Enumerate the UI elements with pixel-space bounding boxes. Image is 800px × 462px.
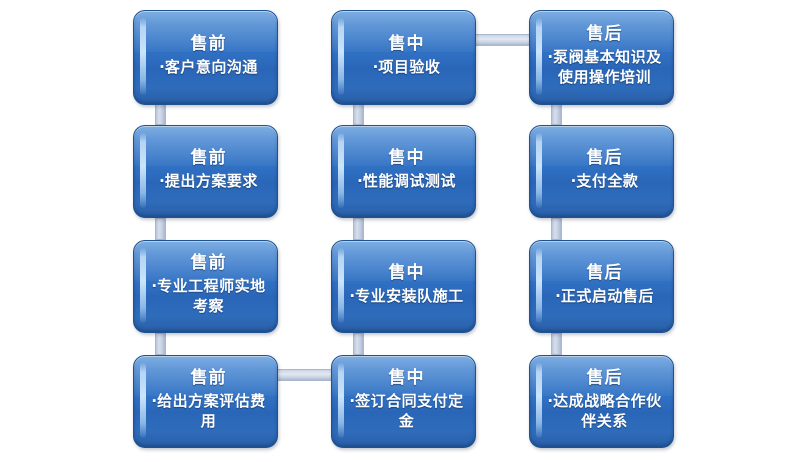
node-text: 专业安装队施工 (355, 287, 464, 305)
node-r3c2[interactable]: 售中 ·专业安装队施工 (331, 240, 476, 333)
node-body: ·客户意向沟通 (159, 57, 258, 77)
node-text: 专业工程师实地考察 (157, 277, 266, 315)
node-text: 签订合同支付定金 (355, 392, 464, 430)
node-body: ·泵阀基本知识及使用操作培训 (546, 47, 663, 88)
node-body: ·签订合同支付定金 (348, 391, 465, 432)
node-text: 给出方案评估费用 (157, 392, 266, 430)
node-text: 达成战略合作伙伴关系 (553, 392, 662, 430)
node-title: 售中 (389, 263, 425, 284)
node-body: ·项目验收 (373, 57, 441, 77)
node-text: 泵阀基本知识及使用操作培训 (553, 48, 662, 86)
node-text: 正式启动售后 (561, 287, 654, 305)
node-body: ·性能调试测试 (357, 171, 456, 191)
node-r1c2[interactable]: 售中 ·项目验收 (331, 10, 476, 105)
connector-c3-r1-r2 (551, 103, 562, 125)
node-title: 售前 (191, 34, 227, 55)
node-title: 售中 (389, 148, 425, 169)
flowchart-canvas: 售前 ·客户意向沟通 售中 ·项目验收 售后 ·泵阀基本知识及使用操作培训 售前… (0, 0, 800, 462)
node-body: ·支付全款 (571, 171, 639, 191)
connector-c3-r3-r4 (551, 333, 562, 355)
node-title: 售后 (587, 368, 623, 389)
connector-c1-r1-r2 (155, 103, 166, 125)
node-r4c3[interactable]: 售后 ·达成战略合作伙伴关系 (529, 355, 674, 448)
node-title: 售前 (191, 148, 227, 169)
node-body: ·达成战略合作伙伴关系 (546, 391, 663, 432)
node-text: 项目验收 (378, 58, 440, 76)
node-title: 售后 (587, 263, 623, 284)
node-r4c2[interactable]: 售中 ·签订合同支付定金 (331, 355, 476, 448)
node-text: 提出方案要求 (165, 172, 258, 190)
node-body: ·给出方案评估费用 (150, 391, 267, 432)
node-title: 售中 (389, 34, 425, 55)
node-r1c1[interactable]: 售前 ·客户意向沟通 (133, 10, 278, 105)
node-body: ·提出方案要求 (159, 171, 258, 191)
node-body: ·专业工程师实地考察 (150, 276, 267, 317)
connector-c1-r3-r4 (155, 333, 166, 355)
node-r3c3[interactable]: 售后 ·正式启动售后 (529, 240, 674, 333)
node-title: 售中 (389, 368, 425, 389)
node-text: 支付全款 (576, 172, 638, 190)
node-body: ·正式启动售后 (555, 286, 654, 306)
connector-r4c1-to-r4c2 (276, 369, 333, 381)
node-title: 售后 (587, 24, 623, 45)
node-text: 客户意向沟通 (165, 58, 258, 76)
node-r3c1[interactable]: 售前 ·专业工程师实地考察 (133, 240, 278, 333)
node-r2c1[interactable]: 售前 ·提出方案要求 (133, 125, 278, 218)
connector-c3-r2-r3 (551, 218, 562, 240)
node-title: 售前 (191, 253, 227, 274)
connector-c2-r3-r4 (353, 333, 364, 355)
connector-c2-r2-r3 (353, 218, 364, 240)
node-text: 性能调试测试 (363, 172, 456, 190)
connector-c1-r2-r3 (155, 218, 166, 240)
node-r2c2[interactable]: 售中 ·性能调试测试 (331, 125, 476, 218)
node-r1c3[interactable]: 售后 ·泵阀基本知识及使用操作培训 (529, 10, 674, 105)
node-title: 售后 (587, 148, 623, 169)
node-body: ·专业安装队施工 (349, 286, 463, 306)
connector-r1c2-to-r1c3 (474, 34, 530, 46)
connector-c2-r1-r2 (353, 103, 364, 125)
node-title: 售前 (191, 368, 227, 389)
node-r4c1[interactable]: 售前 ·给出方案评估费用 (133, 355, 278, 448)
node-r2c3[interactable]: 售后 ·支付全款 (529, 125, 674, 218)
